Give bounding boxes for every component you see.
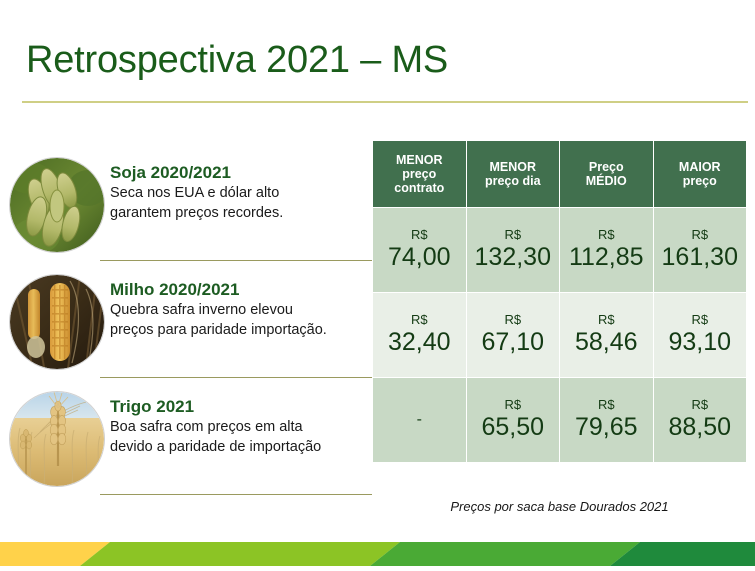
price-cell-milho-menor-contrato: R$ 32,40 xyxy=(373,293,467,378)
commodity-divider xyxy=(100,377,372,378)
commodity-desc-line2: devido a paridade de importação xyxy=(110,438,368,457)
header-line-3: contrato xyxy=(375,181,464,195)
currency-label: R$ xyxy=(691,313,708,327)
price-cell-trigo-menor-contrato: - xyxy=(373,378,467,463)
commodity-desc-line1: Quebra safra inverno elevou xyxy=(110,301,368,320)
page-title: Retrospectiva 2021 – MS xyxy=(26,39,448,82)
currency-label: R$ xyxy=(691,228,708,242)
header-line-2: MÉDIO xyxy=(562,174,651,188)
commodity-desc-line1: Seca nos EUA e dólar alto xyxy=(110,184,368,203)
soybean-pods-photo xyxy=(10,158,104,252)
header-line-1: Preço xyxy=(562,160,651,174)
column-header-menor-preco-dia: MENOR preço dia xyxy=(466,141,560,208)
price-value: 79,65 xyxy=(575,413,638,442)
price-value: 112,85 xyxy=(569,243,644,272)
price-value: 93,10 xyxy=(668,328,731,357)
currency-label: R$ xyxy=(691,398,708,412)
list-item-milho[interactable]: Milho 2020/2021 Quebra safra inverno ele… xyxy=(0,267,372,384)
column-header-preco-medio: Preço MÉDIO xyxy=(560,141,654,208)
commodity-desc-line2: garantem preços recordes. xyxy=(110,204,368,223)
price-cell-soja-menor-dia: R$ 132,30 xyxy=(466,208,560,293)
price-value: 132,30 xyxy=(475,243,551,272)
column-header-maior-preco: MAIOR preço xyxy=(653,141,747,208)
price-cell-milho-maior: R$ 93,10 xyxy=(653,293,747,378)
diagonal-stripe-band xyxy=(0,520,755,566)
price-table-header: MENOR preço contrato MENOR preço dia Pre… xyxy=(373,141,747,208)
price-table: MENOR preço contrato MENOR preço dia Pre… xyxy=(372,140,747,463)
currency-label: R$ xyxy=(598,228,615,242)
price-cell-trigo-menor-dia: R$ 65,50 xyxy=(466,378,560,463)
table-row-soja: R$ 74,00 R$ 132,30 R$ 112,85 R$ 16 xyxy=(373,208,747,293)
corn-cobs-photo xyxy=(10,275,104,369)
currency-label: R$ xyxy=(598,398,615,412)
price-value-empty: - xyxy=(417,412,422,428)
header-line-2: preço dia xyxy=(469,174,558,188)
currency-label: R$ xyxy=(411,228,428,242)
commodity-title: Soja 2020/2021 xyxy=(110,162,368,183)
price-value: 67,10 xyxy=(481,328,544,357)
commodity-title: Trigo 2021 xyxy=(110,396,368,417)
list-item-trigo[interactable]: Trigo 2021 Boa safra com preços em alta … xyxy=(0,384,372,501)
commodity-title: Milho 2020/2021 xyxy=(110,279,368,300)
price-cell-soja-medio: R$ 112,85 xyxy=(560,208,654,293)
price-cell-milho-menor-dia: R$ 67,10 xyxy=(466,293,560,378)
table-row-trigo: - R$ 65,50 R$ 79,65 R$ 88,50 xyxy=(373,378,747,463)
price-value: 58,46 xyxy=(575,328,638,357)
currency-label: R$ xyxy=(411,313,428,327)
currency-label: R$ xyxy=(504,313,521,327)
price-value: 74,00 xyxy=(388,243,451,272)
price-cell-soja-menor-contrato: R$ 74,00 xyxy=(373,208,467,293)
commodity-list: Soja 2020/2021 Seca nos EUA e dólar alto… xyxy=(0,150,372,501)
price-table-note: Preços por saca base Dourados 2021 xyxy=(372,499,747,514)
commodity-desc-line1: Boa safra com preços em alta xyxy=(110,418,368,437)
currency-label: R$ xyxy=(504,398,521,412)
header-line-1: MENOR xyxy=(469,160,558,174)
currency-label: R$ xyxy=(598,313,615,327)
currency-label: R$ xyxy=(504,228,521,242)
price-cell-soja-maior: R$ 161,30 xyxy=(653,208,747,293)
price-value: 161,30 xyxy=(662,243,738,272)
price-value: 32,40 xyxy=(388,328,451,357)
header-line-1: MENOR xyxy=(375,153,464,167)
table-row-milho: R$ 32,40 R$ 67,10 R$ 58,46 R$ 93,1 xyxy=(373,293,747,378)
wheat-field-photo xyxy=(10,392,104,486)
table-header-row: MENOR preço contrato MENOR preço dia Pre… xyxy=(373,141,747,208)
price-cell-trigo-maior: R$ 88,50 xyxy=(653,378,747,463)
column-header-menor-preco-contrato: MENOR preço contrato xyxy=(373,141,467,208)
header-line-2: preço xyxy=(656,174,745,188)
header-line-2: preço xyxy=(375,167,464,181)
price-cell-milho-medio: R$ 58,46 xyxy=(560,293,654,378)
commodity-desc-line2: preços para paridade importação. xyxy=(110,321,368,340)
commodity-divider xyxy=(100,494,372,495)
price-cell-trigo-medio: R$ 79,65 xyxy=(560,378,654,463)
price-table-body: R$ 74,00 R$ 132,30 R$ 112,85 R$ 16 xyxy=(373,208,747,463)
list-item-soja[interactable]: Soja 2020/2021 Seca nos EUA e dólar alto… xyxy=(0,150,372,267)
price-value: 88,50 xyxy=(668,413,731,442)
header-line-1: MAIOR xyxy=(656,160,745,174)
price-value: 65,50 xyxy=(481,413,544,442)
title-underline-rule xyxy=(22,101,748,103)
commodity-divider xyxy=(100,260,372,261)
